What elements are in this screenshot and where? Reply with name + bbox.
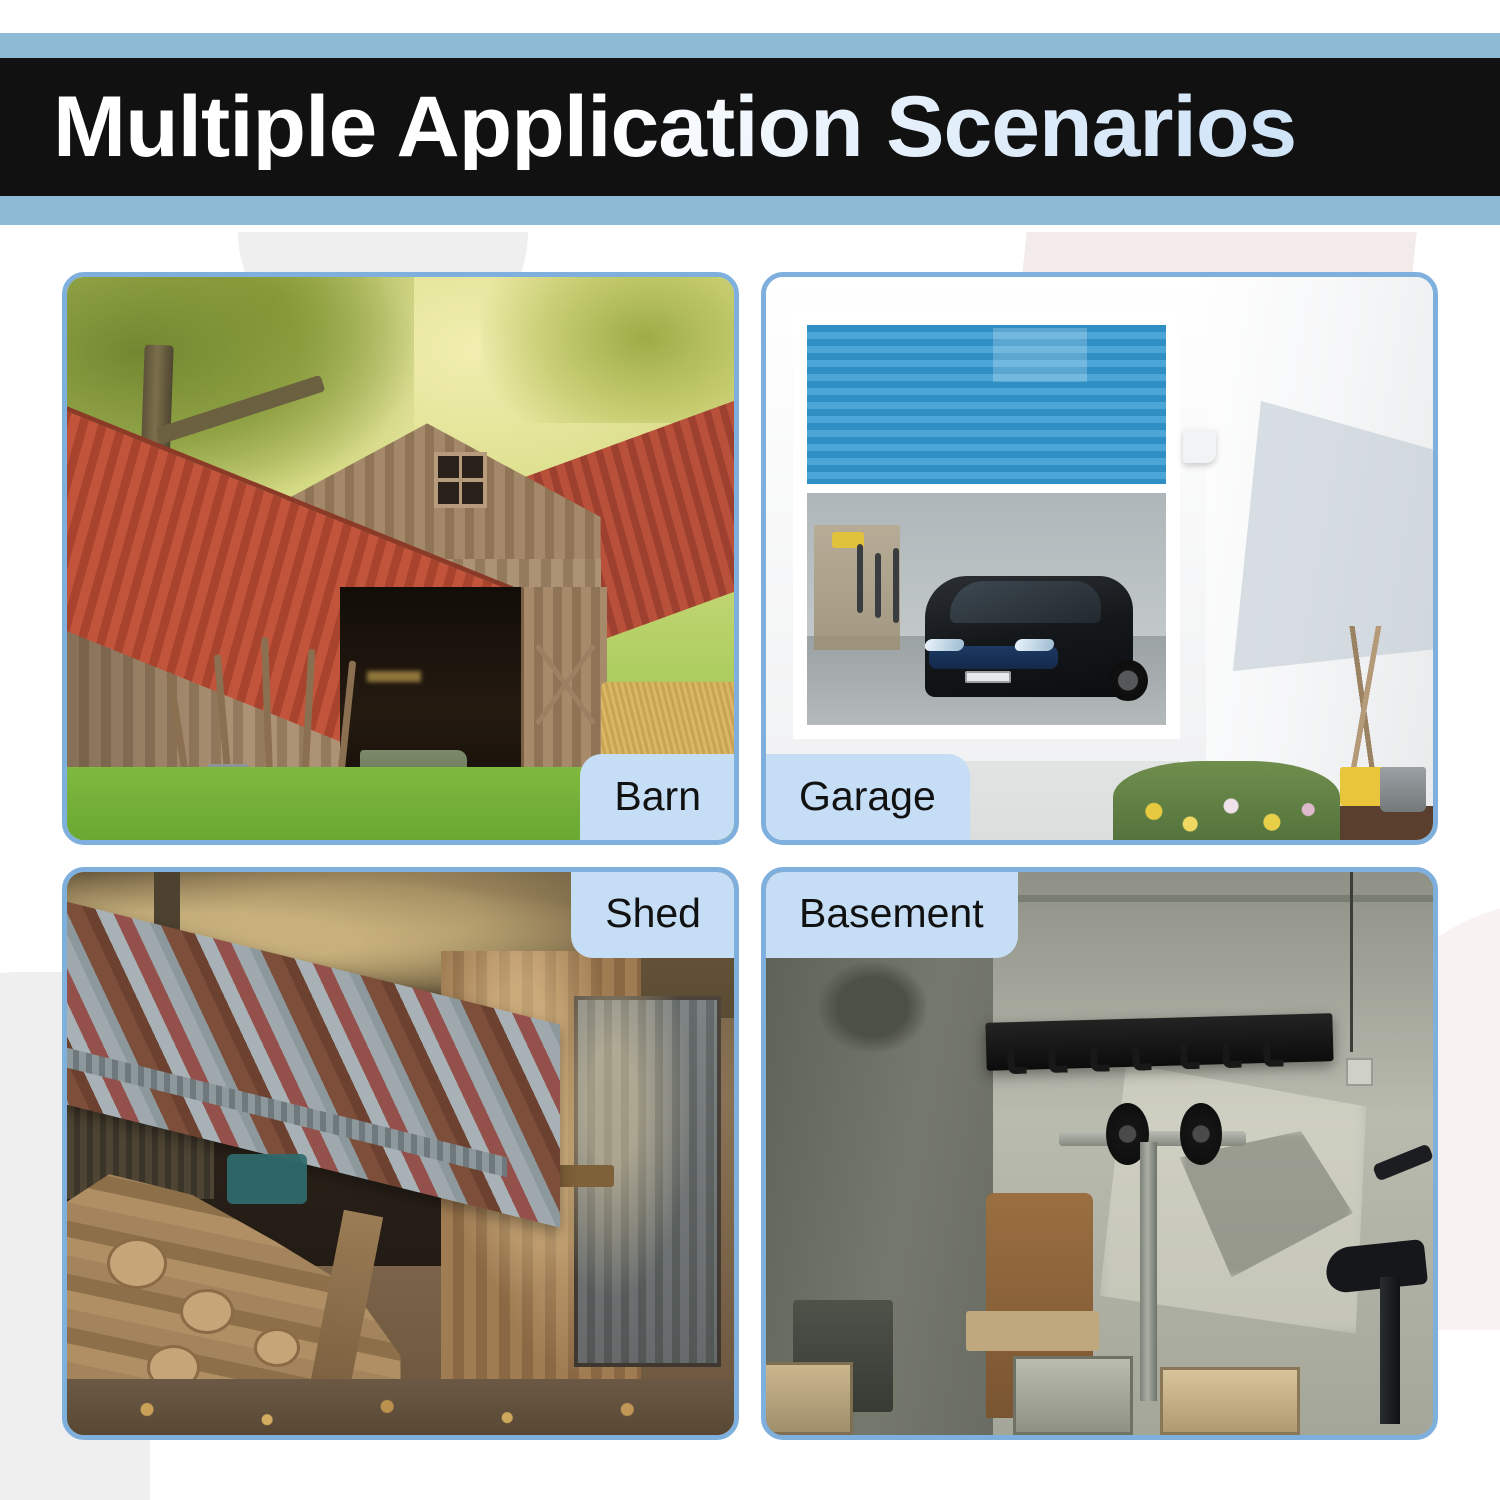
garage-door-opening — [793, 311, 1180, 739]
scenario-label-shed: Shed — [571, 871, 735, 958]
barn-tree-right — [481, 277, 734, 423]
basement-wall-stain — [819, 962, 926, 1052]
scenario-card-shed[interactable]: Shed — [62, 867, 739, 1440]
header-black-bar: Multiple Application Scenarios — [0, 58, 1500, 196]
barn-loft-window — [434, 452, 487, 508]
rail-hook-3 — [1090, 1047, 1110, 1072]
basement-wall-hook-rail — [986, 1014, 1334, 1072]
garage-car-headlight-left — [924, 639, 966, 651]
shed-teal-tarp — [227, 1154, 307, 1205]
garage-car-wheel — [1108, 660, 1147, 702]
garage-car-windshield — [950, 581, 1101, 623]
basement-storage-trunk — [1013, 1356, 1133, 1435]
rail-hook-4 — [1132, 1045, 1152, 1070]
shed-log-end-1 — [107, 1238, 167, 1289]
rail-hook-7 — [1264, 1042, 1284, 1067]
scenario-grid: Barn — [62, 272, 1438, 1440]
scenario-label-garage: Garage — [765, 754, 970, 841]
barn-interior-light — [367, 671, 420, 682]
basement-wall-outlet — [1346, 1058, 1373, 1086]
garage-car-license-plate — [965, 671, 1012, 683]
scenario-card-garage[interactable]: Garage — [761, 272, 1438, 845]
garage-car-headlight-right — [1014, 639, 1056, 651]
basement-bike-frame — [1380, 1277, 1400, 1423]
garage-shutter-highlight — [993, 328, 1086, 382]
scenario-card-basement[interactable]: Basement — [761, 867, 1438, 1440]
basement-cardboard-box — [1160, 1367, 1300, 1435]
shed-log-end-2 — [180, 1289, 233, 1334]
garage-flower-bed — [1113, 761, 1340, 840]
scenario-label-barn: Barn — [580, 754, 735, 841]
basement-weight-plate-right — [1180, 1103, 1223, 1165]
header-banner: Multiple Application Scenarios — [0, 33, 1500, 225]
garage-roller-shutter — [807, 325, 1166, 493]
garage-interior — [807, 493, 1166, 725]
page-title: Multiple Application Scenarios — [0, 84, 1296, 170]
basement-hanging-cord — [1350, 872, 1353, 1052]
rail-hook-1 — [1007, 1049, 1027, 1074]
rail-hook-6 — [1222, 1043, 1242, 1068]
scenario-label-basement: Basement — [765, 871, 1018, 958]
garage-grey-bucket — [1380, 767, 1427, 812]
garage-hanging-tool-1 — [857, 544, 863, 614]
shed-fallen-leaves — [67, 1384, 734, 1435]
rail-hook-5 — [1180, 1044, 1200, 1069]
basement-wooden-crate-left — [766, 1362, 853, 1435]
basement-chair-seat — [966, 1311, 1099, 1350]
rail-hook-2 — [1049, 1048, 1069, 1073]
garage-hanging-tool-2 — [875, 553, 881, 618]
garage-wall-lamp — [1183, 429, 1216, 463]
basement-barbell-stand — [1140, 1142, 1157, 1401]
garage-hanging-tool-3 — [893, 548, 899, 622]
scenario-card-barn[interactable]: Barn — [62, 272, 739, 845]
